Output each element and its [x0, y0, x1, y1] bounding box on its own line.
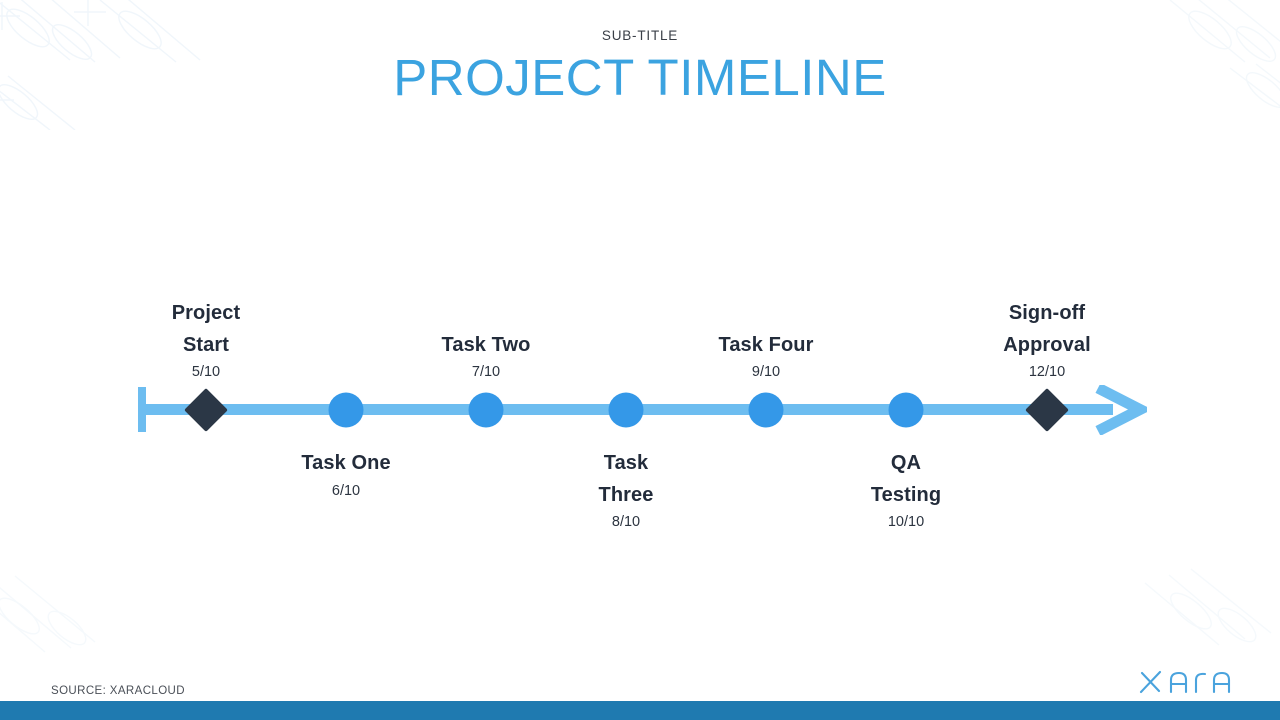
timeline-diagram: Project Start5/10Task One6/10Task Two7/1… [0, 0, 1280, 720]
milestone-date: 6/10 [294, 482, 398, 501]
milestone-name: Task One [294, 448, 398, 480]
bottom-accent-bar [0, 701, 1280, 720]
milestone-marker-diamond[interactable] [184, 388, 228, 432]
xara-logo [1138, 662, 1233, 700]
milestone-date: 8/10 [574, 513, 678, 532]
milestone-marker-diamond[interactable] [1025, 388, 1069, 432]
milestone-name: QA Testing [854, 448, 958, 511]
milestone-marker-circle[interactable] [329, 393, 364, 428]
milestone-marker-circle[interactable] [609, 393, 644, 428]
milestone-label: Sign-off Approval12/10 [995, 298, 1099, 382]
milestone-label: Task Three8/10 [574, 448, 678, 532]
milestone-date: 7/10 [434, 363, 538, 382]
milestone-marker-circle[interactable] [469, 393, 504, 428]
timeline-arrow-icon [1092, 385, 1147, 435]
source-caption: SOURCE: XARACLOUD [51, 685, 185, 697]
milestone-marker-circle[interactable] [749, 393, 784, 428]
milestone-name: Task Three [574, 448, 678, 511]
milestone-name: Sign-off Approval [995, 298, 1099, 361]
milestone-label: Task Four9/10 [714, 330, 818, 382]
milestone-date: 10/10 [854, 513, 958, 532]
milestone-name: Task Two [434, 330, 538, 362]
milestone-label: Project Start5/10 [154, 298, 258, 382]
milestone-label: QA Testing10/10 [854, 448, 958, 532]
milestone-date: 5/10 [154, 363, 258, 382]
milestone-date: 12/10 [995, 363, 1099, 382]
milestone-date: 9/10 [714, 363, 818, 382]
milestone-name: Project Start [154, 298, 258, 361]
milestone-name: Task Four [714, 330, 818, 362]
milestone-label: Task One6/10 [294, 448, 398, 500]
milestone-label: Task Two7/10 [434, 330, 538, 382]
milestone-marker-circle[interactable] [889, 393, 924, 428]
